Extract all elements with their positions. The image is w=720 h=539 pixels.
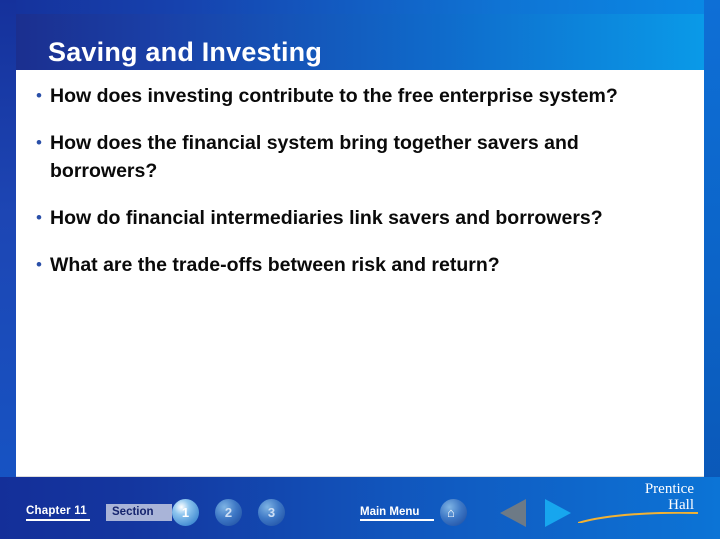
bullet-text: What are the trade-offs between risk and…	[50, 251, 696, 279]
section-button-2[interactable]: 2	[215, 499, 242, 526]
list-item: • How does the financial system bring to…	[24, 129, 696, 185]
footer-bar: Chapter 11 Section 1 2 3 Main Menu ⌂ Pre…	[0, 477, 720, 539]
list-item: • How do financial intermediaries link s…	[24, 204, 696, 232]
section-button-1[interactable]: 1	[172, 499, 199, 526]
home-icon: ⌂	[447, 506, 455, 519]
bullet-text: How does investing contribute to the fre…	[50, 82, 696, 110]
slide-frame-top	[0, 0, 720, 14]
bullet-marker-icon: •	[24, 82, 50, 110]
brand-line-1: Prentice	[645, 481, 694, 497]
main-menu-label[interactable]: Main Menu	[360, 506, 419, 518]
title-banner: Saving and Investing	[16, 14, 704, 70]
chapter-label[interactable]: Chapter 11	[26, 505, 87, 517]
chapter-underline	[26, 519, 90, 521]
section-button-3[interactable]: 3	[258, 499, 285, 526]
bullet-text: How do financial intermediaries link sav…	[50, 204, 696, 232]
slide-body: • How does investing contribute to the f…	[16, 70, 704, 477]
page-title: Saving and Investing	[48, 37, 322, 68]
brand-swoosh-icon	[578, 511, 698, 523]
main-menu-underline	[360, 519, 434, 521]
slide-frame-right	[704, 0, 720, 539]
bullet-marker-icon: •	[24, 129, 50, 157]
section-label: Section	[112, 506, 154, 518]
slide: Saving and Investing • How does investin…	[0, 0, 720, 539]
brand-logo: Prentice Hall	[645, 481, 694, 513]
list-item: • How does investing contribute to the f…	[24, 82, 696, 110]
bullet-text: How does the financial system bring toge…	[50, 129, 696, 185]
bullet-list: • How does investing contribute to the f…	[24, 82, 696, 298]
next-arrow-icon[interactable]	[545, 499, 571, 527]
list-item: • What are the trade-offs between risk a…	[24, 251, 696, 279]
previous-arrow-icon[interactable]	[500, 499, 526, 527]
bullet-marker-icon: •	[24, 251, 50, 279]
slide-frame-left	[0, 0, 16, 539]
bullet-marker-icon: •	[24, 204, 50, 232]
